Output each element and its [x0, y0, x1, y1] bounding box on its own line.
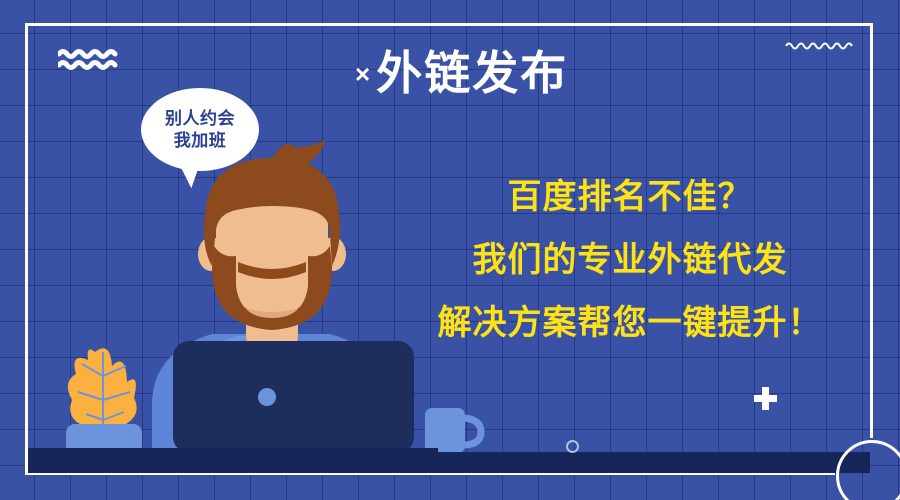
double-wave-icon	[58, 48, 120, 70]
plant	[66, 348, 142, 454]
poster-canvas: ×外链发布 别人约会 我加班 百度排名不佳？ 我们的专业外链代发 解决方案帮您一…	[0, 0, 900, 500]
copy-line-2: 我们的专业外链代发	[420, 243, 840, 277]
marketing-copy: 百度排名不佳？ 我们的专业外链代发 解决方案帮您一键提升！	[420, 180, 840, 340]
mouth	[245, 279, 299, 297]
laptop-logo	[258, 388, 276, 406]
page-title-text: 外链发布	[376, 47, 568, 99]
speech-bubble-line-2: 我加班	[174, 130, 227, 151]
thin-wave-icon	[785, 38, 857, 52]
copy-line-3: 解决方案帮您一键提升！	[420, 306, 840, 340]
speech-bubble: 别人约会 我加班	[141, 88, 259, 171]
desk	[28, 452, 870, 473]
mug	[425, 408, 481, 453]
page-title: ×外链发布	[355, 48, 568, 99]
speech-bubble-line-1: 别人约会	[165, 108, 235, 129]
mug-body	[425, 408, 465, 453]
laptop-screen	[173, 341, 414, 453]
close-icon: ×	[355, 59, 372, 89]
plus-icon	[754, 387, 777, 410]
copy-line-1: 百度排名不佳？	[420, 180, 840, 214]
mug-handle	[465, 418, 481, 445]
small-circle-icon	[566, 440, 579, 453]
